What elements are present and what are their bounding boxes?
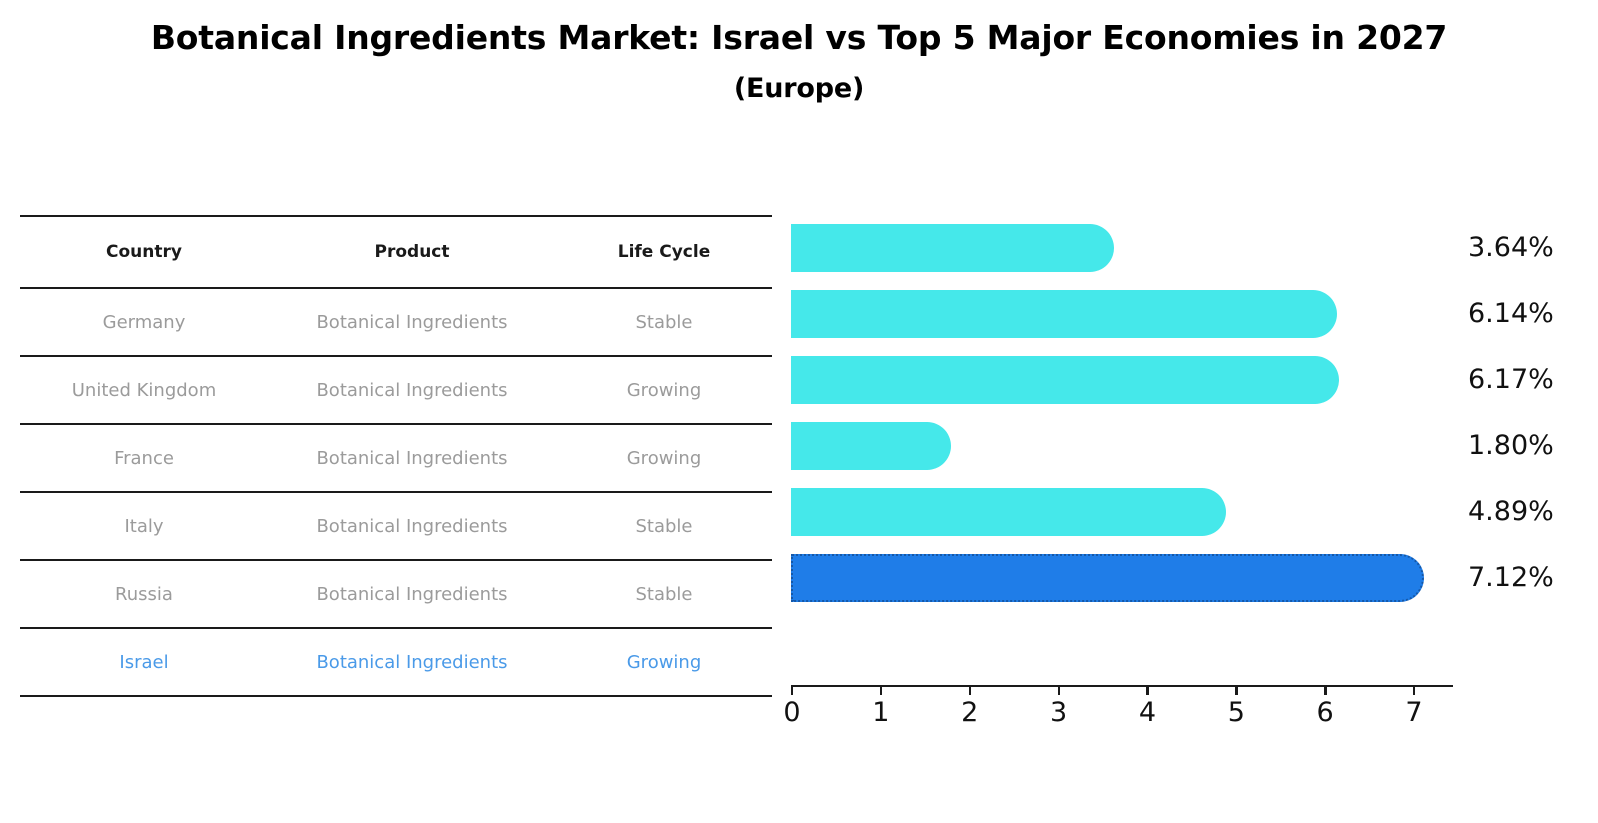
x-tick-label: 2 xyxy=(961,697,978,728)
bar-italy xyxy=(791,422,951,470)
x-tick xyxy=(880,685,882,695)
bar-row: 6.17% xyxy=(778,347,1448,413)
bar-value-label: 4.89% xyxy=(1468,479,1554,545)
bar-russia xyxy=(791,488,1226,536)
x-axis-line xyxy=(791,685,1453,687)
column-header-product: Product xyxy=(268,216,556,288)
bar-row: 3.64% xyxy=(778,215,1448,281)
x-tick-label: 3 xyxy=(1050,697,1067,728)
x-tick-label: 4 xyxy=(1139,697,1156,728)
bar-row: 1.80% xyxy=(778,413,1448,479)
column-header-life-cycle: Life Cycle xyxy=(556,216,772,288)
cell-product: Botanical Ingredients xyxy=(268,628,556,696)
table-row: RussiaBotanical IngredientsStable xyxy=(20,560,772,628)
table-row: United KingdomBotanical IngredientsGrowi… xyxy=(20,356,772,424)
chart-title-line-1: Botanical Ingredients Market: Israel vs … xyxy=(0,10,1598,66)
x-tick xyxy=(1413,685,1415,695)
x-axis: 01234567 xyxy=(791,685,1453,745)
table-row: FranceBotanical IngredientsGrowing xyxy=(20,424,772,492)
bar-row: 4.89% xyxy=(778,479,1448,545)
x-tick xyxy=(1324,685,1326,695)
bar-value-label: 6.17% xyxy=(1468,347,1554,413)
cell-country: Russia xyxy=(20,560,268,628)
cell-product: Botanical Ingredients xyxy=(268,560,556,628)
x-tick-label: 1 xyxy=(872,697,889,728)
plot-area: 3.64%6.14%6.17%1.80%4.89%7.12% xyxy=(778,215,1448,685)
column-header-country: Country xyxy=(20,216,268,288)
chart-figure: Botanical Ingredients Market: Israel vs … xyxy=(0,0,1598,823)
cell-life-cycle: Growing xyxy=(556,356,772,424)
cell-country: Germany xyxy=(20,288,268,356)
cell-life-cycle: Stable xyxy=(556,288,772,356)
cell-product: Botanical Ingredients xyxy=(268,288,556,356)
cell-life-cycle: Stable xyxy=(556,492,772,560)
bar-row: 7.12% xyxy=(778,545,1448,611)
cell-country: France xyxy=(20,424,268,492)
cell-country: United Kingdom xyxy=(20,356,268,424)
x-tick-label: 7 xyxy=(1405,697,1422,728)
cell-life-cycle: Stable xyxy=(556,560,772,628)
bar-value-label: 7.12% xyxy=(1468,545,1554,611)
chart-title-line-2: (Europe) xyxy=(0,66,1598,112)
bar-israel xyxy=(791,554,1424,602)
table-row: ItalyBotanical IngredientsStable xyxy=(20,492,772,560)
bar-row: 6.14% xyxy=(778,281,1448,347)
table-row: GermanyBotanical IngredientsStable xyxy=(20,288,772,356)
bar-germany xyxy=(791,224,1114,272)
x-tick xyxy=(1235,685,1237,695)
cell-country: Israel xyxy=(20,628,268,696)
cell-life-cycle: Growing xyxy=(556,424,772,492)
bar-chart-panel: 3.64%6.14%6.17%1.80%4.89%7.12% 01234567 xyxy=(778,215,1578,735)
chart-title: Botanical Ingredients Market: Israel vs … xyxy=(0,10,1598,112)
table-row: IsraelBotanical IngredientsGrowing xyxy=(20,628,772,696)
x-tick-label: 0 xyxy=(783,697,800,728)
cell-product: Botanical Ingredients xyxy=(268,424,556,492)
x-tick-label: 5 xyxy=(1228,697,1245,728)
table-body: GermanyBotanical IngredientsStableUnited… xyxy=(20,288,772,696)
x-tick xyxy=(1058,685,1060,695)
cell-product: Botanical Ingredients xyxy=(268,492,556,560)
bar-value-label: 6.14% xyxy=(1468,281,1554,347)
x-tick-label: 6 xyxy=(1317,697,1334,728)
country-table-panel: Country Product Life Cycle GermanyBotani… xyxy=(20,215,772,697)
cell-country: Italy xyxy=(20,492,268,560)
x-tick xyxy=(791,685,793,695)
table-header-row: Country Product Life Cycle xyxy=(20,216,772,288)
bar-value-label: 1.80% xyxy=(1468,413,1554,479)
bar-united-kingdom xyxy=(791,290,1337,338)
x-tick xyxy=(1146,685,1148,695)
cell-product: Botanical Ingredients xyxy=(268,356,556,424)
bar-france xyxy=(791,356,1339,404)
cell-life-cycle: Growing xyxy=(556,628,772,696)
country-table: Country Product Life Cycle GermanyBotani… xyxy=(20,215,772,697)
x-tick xyxy=(969,685,971,695)
table-header: Country Product Life Cycle xyxy=(20,216,772,288)
bar-value-label: 3.64% xyxy=(1468,215,1554,281)
